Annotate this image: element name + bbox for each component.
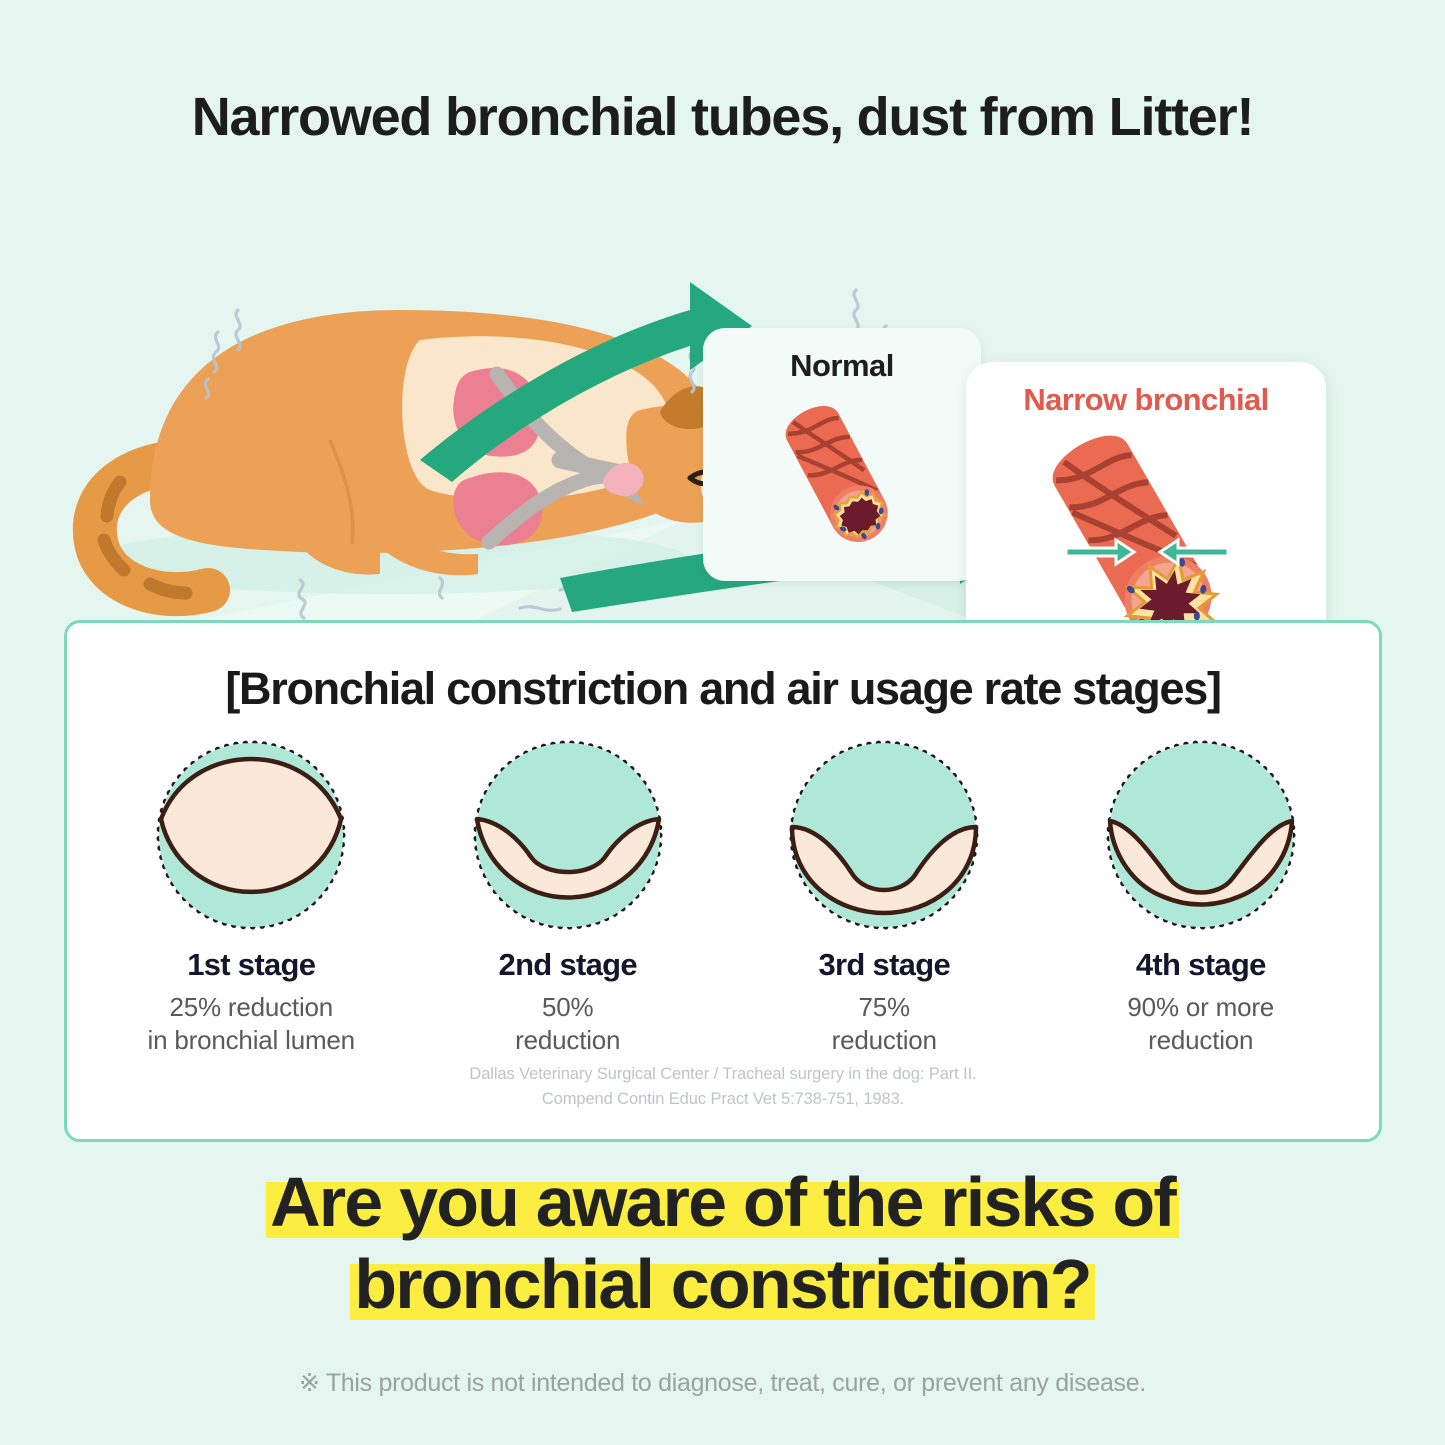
- stage-name: 4th stage: [1051, 947, 1351, 983]
- stage-desc-line1: 25% reduction: [169, 992, 333, 1022]
- stage-name: 2nd stage: [418, 947, 718, 983]
- normal-bronchial-diagram: [703, 390, 981, 570]
- stage-desc: 90% or more reduction: [1051, 991, 1351, 1057]
- illustration-area: Normal: [0, 160, 1445, 620]
- stage-desc-line2: reduction: [515, 1025, 620, 1055]
- footer-headline: Are you aware of the risks of bronchial …: [0, 1162, 1445, 1326]
- stage-desc-line1: 50%: [542, 992, 593, 1022]
- citation: Dallas Veterinary Surgical Center / Trac…: [67, 1062, 1379, 1113]
- stage-name: 1st stage: [101, 947, 401, 983]
- disclaimer: ※ This product is not intended to diagno…: [0, 1368, 1445, 1398]
- citation-line2: Compend Contin Educ Pract Vet 5:738-751,…: [542, 1090, 904, 1108]
- stage-desc: 75% reduction: [734, 991, 1034, 1057]
- stage-name: 3rd stage: [734, 947, 1034, 983]
- stage-desc-line1: 90% or more: [1127, 992, 1274, 1022]
- stage-item: 4th stage 90% or more reduction: [1051, 735, 1351, 1057]
- stage-item: 2nd stage 50% reduction: [418, 735, 718, 1057]
- stage-item: 3rd stage 75% reduction: [734, 735, 1034, 1057]
- card-normal-title: Normal: [703, 348, 981, 384]
- headline-line1: Are you aware of the risks of: [266, 1162, 1179, 1244]
- page-title: Narrowed bronchial tubes, dust from Litt…: [0, 86, 1445, 148]
- stages-panel: [Bronchial constriction and air usage ra…: [64, 620, 1382, 1142]
- stage-desc: 25% reduction in bronchial lumen: [101, 991, 401, 1057]
- stage-desc-line2: reduction: [832, 1025, 937, 1055]
- stage-desc-line2: reduction: [1148, 1025, 1253, 1055]
- stage-desc: 50% reduction: [418, 991, 718, 1057]
- stage-3-diagram: [781, 735, 987, 935]
- headline-line2: bronchial constriction?: [350, 1244, 1094, 1326]
- stages-panel-title: [Bronchial constriction and air usage ra…: [67, 663, 1379, 715]
- infographic-root: Narrowed bronchial tubes, dust from Litt…: [0, 0, 1445, 1445]
- stage-list: 1st stage 25% reduction in bronchial lum…: [93, 735, 1359, 1057]
- citation-line1: Dallas Veterinary Surgical Center / Trac…: [469, 1065, 976, 1083]
- stage-item: 1st stage 25% reduction in bronchial lum…: [101, 735, 401, 1057]
- stage-desc-line1: 75%: [859, 992, 910, 1022]
- stage-desc-line2: in bronchial lumen: [148, 1025, 355, 1055]
- stage-2-diagram: [465, 735, 671, 935]
- card-normal: Normal: [703, 328, 981, 581]
- stage-1-diagram: [148, 735, 354, 935]
- stage-4-diagram: [1098, 735, 1304, 935]
- card-narrow-title: Narrow bronchial: [966, 382, 1326, 418]
